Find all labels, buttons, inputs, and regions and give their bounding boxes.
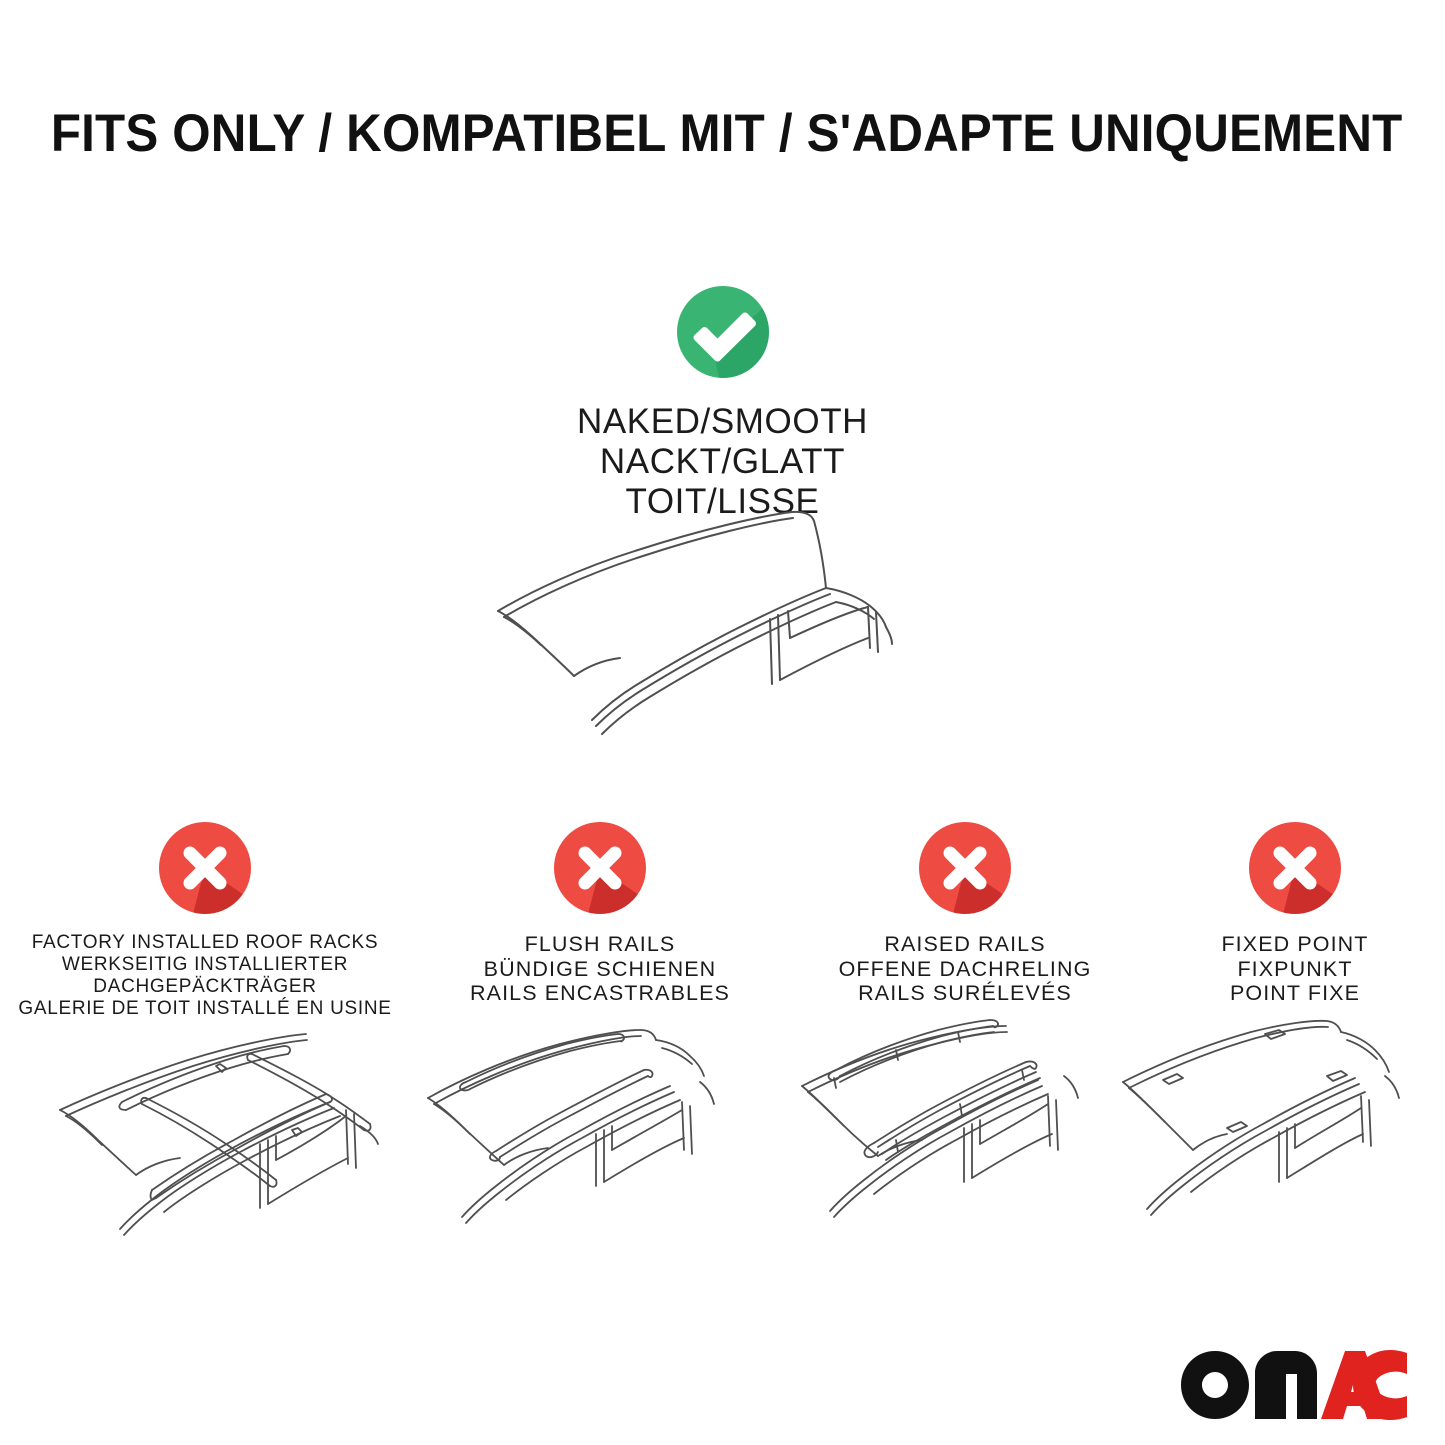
incompatible-labels: FLUSH RAILS BÜNDIGE SCHIENEN RAILS ENCAS… (410, 932, 790, 1006)
omac-logo-mark (1175, 1345, 1410, 1425)
check-icon-glyph (677, 286, 769, 378)
car-roof-flush-rails-diagram (408, 1018, 803, 1248)
incompatible-item-flush-rails: FLUSH RAILS BÜNDIGE SCHIENEN RAILS ENCAS… (410, 822, 790, 1006)
cross-icon (919, 822, 1011, 914)
compatible-label-de: NACKT/GLATT (0, 442, 1445, 482)
omac-logo-letter-m (1255, 1351, 1317, 1419)
omac-logo-letter-o (1181, 1351, 1249, 1419)
cross-icon (1249, 822, 1341, 914)
car-roof-flush-rails-drawing (408, 1018, 803, 1248)
incompatible-labels: FACTORY INSTALLED ROOF RACKS WERKSEITIG … (12, 932, 398, 1020)
incompatible-label-en: FIXED POINT (1145, 932, 1445, 957)
incompatible-item-fixed-point: FIXED POINT FIXPUNKT POINT FIXE (1145, 822, 1445, 1006)
incompatible-label-fr: RAILS ENCASTRABLES (410, 981, 790, 1006)
car-roof-factory-roof-racks-drawing (30, 1018, 430, 1248)
incompatible-label-en: FACTORY INSTALLED ROOF RACKS (12, 932, 398, 954)
omac-logo (1175, 1345, 1410, 1425)
car-roof-raised-rails-diagram (790, 1018, 1170, 1248)
page-title-text: FITS ONLY / KOMPATIBEL MIT / S'ADAPTE UN… (51, 104, 1403, 164)
incompatible-section: FACTORY INSTALLED ROOF RACKS WERKSEITIG … (0, 822, 1445, 1102)
incompatible-label-fr: RAILS SURÉLEVÉS (780, 981, 1150, 1006)
cross-icon-glyph (159, 822, 251, 914)
incompatible-labels: RAISED RAILS OFFENE DACHRELING RAILS SUR… (780, 932, 1150, 1006)
check-icon (677, 286, 769, 378)
incompatible-label-fr: POINT FIXE (1145, 981, 1445, 1006)
car-roof-naked-smooth-diagram (470, 488, 990, 756)
incompatible-label-en: FLUSH RAILS (410, 932, 790, 957)
compatible-section: NAKED/SMOOTH NACKT/GLATT TOIT/LISSE (0, 286, 1445, 522)
incompatible-item-raised-rails: RAISED RAILS OFFENE DACHRELING RAILS SUR… (780, 822, 1150, 1006)
car-roof-factory-roof-racks-diagram (30, 1018, 430, 1248)
cross-icon (554, 822, 646, 914)
car-roof-fixed-point-drawing (1115, 1018, 1445, 1248)
car-roof-fixed-point-diagram (1115, 1018, 1445, 1248)
incompatible-labels: FIXED POINT FIXPUNKT POINT FIXE (1145, 932, 1445, 1006)
incompatible-label-en: RAISED RAILS (780, 932, 1150, 957)
compatible-label-en: NAKED/SMOOTH (0, 402, 1445, 442)
incompatible-label-de: FIXPUNKT (1145, 957, 1445, 982)
cross-icon-glyph (554, 822, 646, 914)
cross-icon (159, 822, 251, 914)
incompatible-label-fr: GALERIE DE TOIT INSTALLÉ EN USINE (12, 998, 398, 1020)
page-title: FITS ONLY / KOMPATIBEL MIT / S'ADAPTE UN… (0, 104, 1445, 164)
incompatible-label-de-2: DACHGEPÄCKTRÄGER (12, 976, 398, 998)
incompatible-label-de-1: WERKSEITIG INSTALLIERTER (12, 954, 398, 976)
cross-icon-glyph (1249, 822, 1341, 914)
incompatible-label-de: BÜNDIGE SCHIENEN (410, 957, 790, 982)
cross-icon-glyph (919, 822, 1011, 914)
incompatible-item-factory-installed-roof-racks: FACTORY INSTALLED ROOF RACKS WERKSEITIG … (12, 822, 398, 1020)
car-roof-raised-rails-drawing (790, 1018, 1170, 1248)
incompatible-label-de: OFFENE DACHRELING (780, 957, 1150, 982)
car-roof-naked-smooth-drawing (470, 488, 990, 756)
